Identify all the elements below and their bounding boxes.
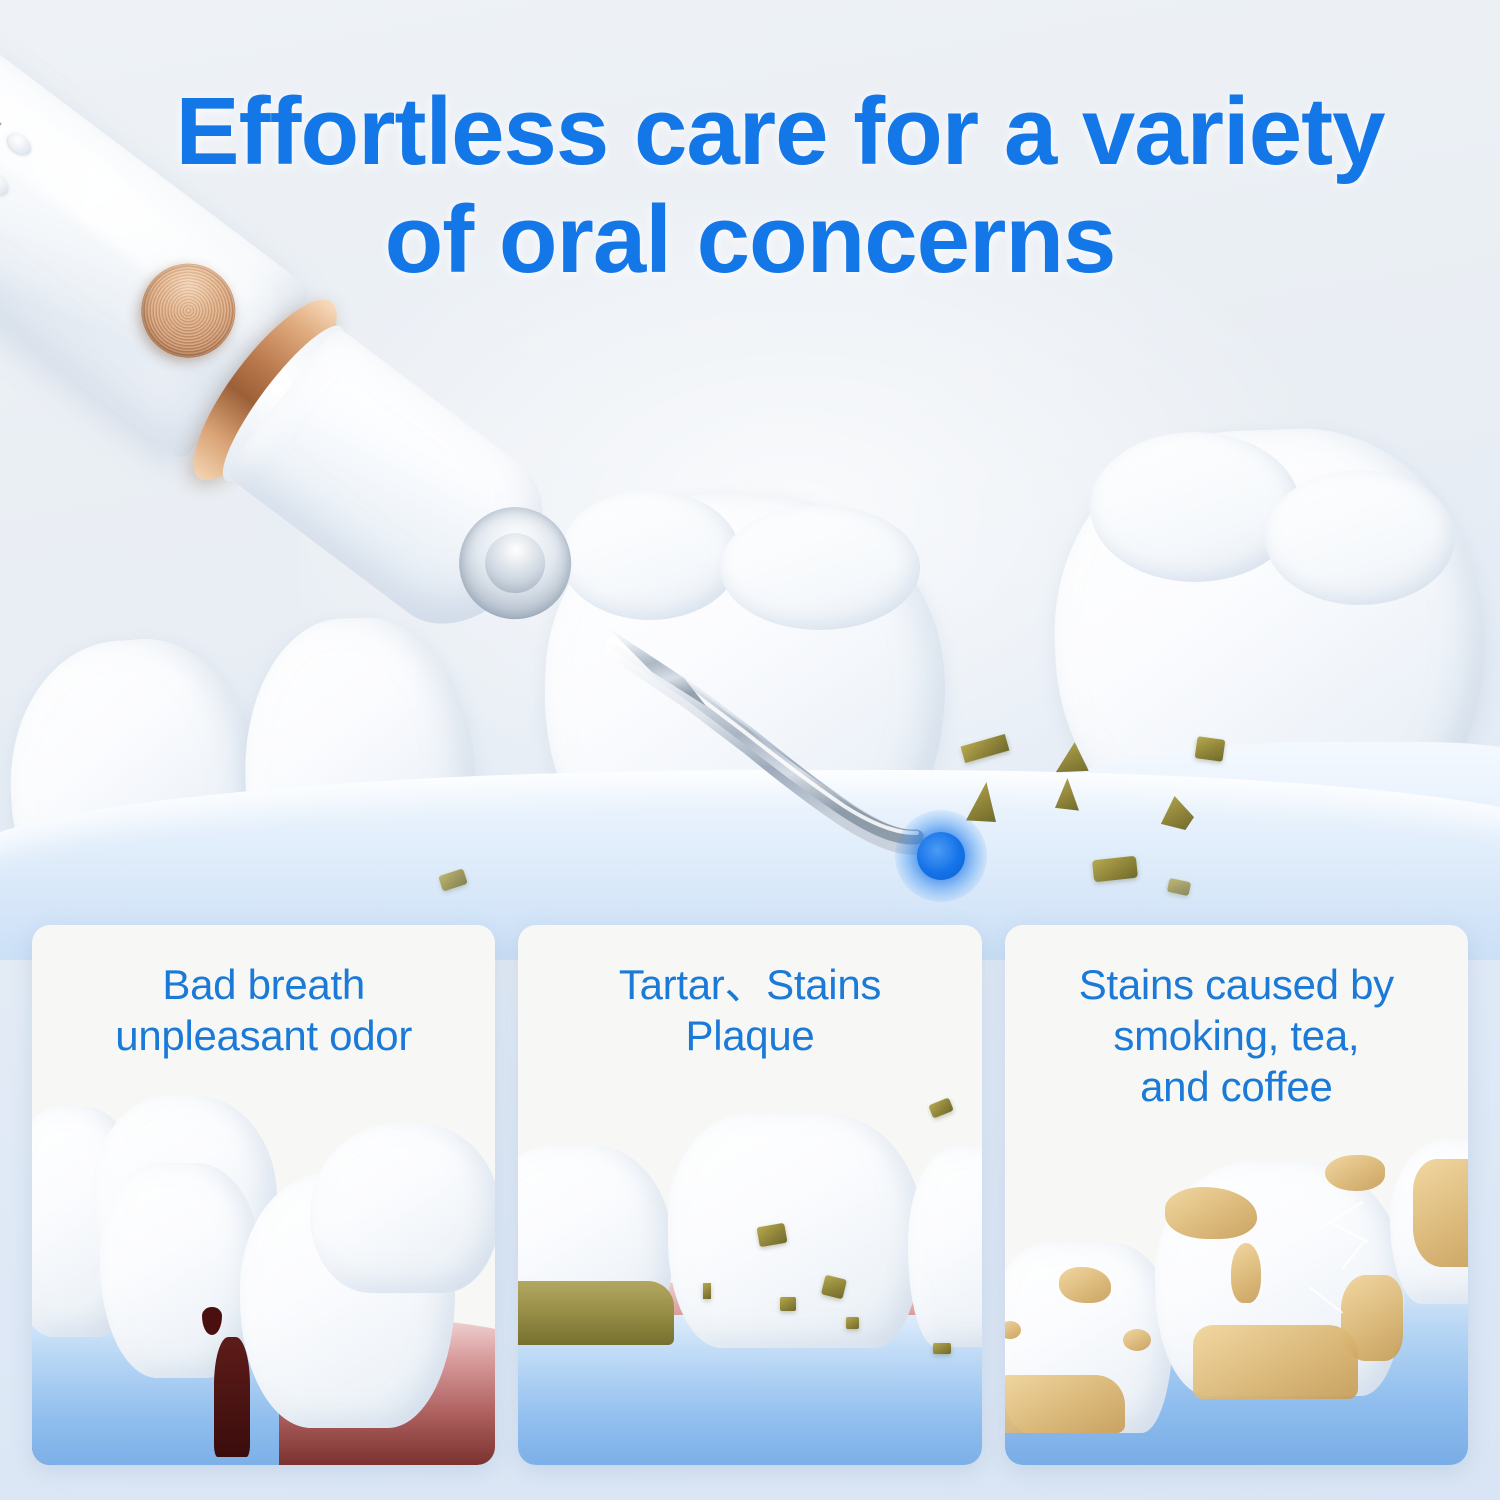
- card-caption-line-2: unpleasant odor: [50, 1010, 477, 1061]
- cleaning-contact-point: [917, 832, 965, 880]
- mode-indicator-dot: [5, 130, 36, 159]
- concern-card-tartar-plaque[interactable]: Tartar、Stains Plaque: [518, 925, 981, 1465]
- card-tooth: [668, 1113, 923, 1348]
- tartar-flake: [780, 1297, 796, 1311]
- tooth-stain: [1059, 1267, 1111, 1303]
- card-caption-line-2: smoking, tea,: [1023, 1010, 1450, 1061]
- card-caption-line-1: Bad breath: [50, 959, 477, 1010]
- tooth-stain: [1005, 1375, 1125, 1433]
- tooth-stain: [1341, 1275, 1403, 1361]
- tooth-stain: [1413, 1159, 1468, 1267]
- card-caption: Bad breath unpleasant odor: [32, 925, 495, 1071]
- tooth-stain: [1123, 1329, 1151, 1351]
- card-illustration-stained-teeth: [1005, 1135, 1468, 1465]
- tooth-cusp: [720, 505, 920, 630]
- card-caption-line-3: and coffee: [1023, 1061, 1450, 1112]
- card-caption-line-1: Stains caused by: [1023, 959, 1450, 1010]
- tooth-stain: [1325, 1155, 1385, 1191]
- card-caption: Stains caused by smoking, tea, and coffe…: [1005, 925, 1468, 1123]
- tartar-deposit: [518, 1281, 674, 1345]
- card-tooth: [908, 1147, 981, 1347]
- card-illustration-tartar-buildup: [518, 1085, 981, 1465]
- tartar-flake: [846, 1317, 859, 1329]
- tooth-cusp: [1090, 432, 1300, 582]
- card-tooth: [310, 1123, 495, 1293]
- tartar-flake: [933, 1343, 951, 1354]
- tartar-flake: [1195, 736, 1226, 762]
- tartar-flake: [703, 1283, 711, 1299]
- concern-card-list: Bad breath unpleasant odor Tartar、Stains…: [32, 925, 1468, 1465]
- tooth-stain: [1193, 1325, 1358, 1399]
- card-caption-line-1: Tartar、Stains: [536, 959, 963, 1010]
- tooth-cusp: [1265, 470, 1455, 605]
- hero-illustration: strong normal soft: [0, 0, 1500, 960]
- tooth-stain: [1231, 1243, 1261, 1303]
- gum-bleeding-area: [214, 1337, 250, 1457]
- concern-card-bad-breath[interactable]: Bad breath unpleasant odor: [32, 925, 495, 1465]
- mode-indicator-dot: [0, 170, 12, 199]
- card-caption-line-2: Plaque: [536, 1010, 963, 1061]
- product-marketing-page: strong normal soft: [0, 0, 1500, 1500]
- concern-card-smoking-stains[interactable]: Stains caused by smoking, tea, and coffe…: [1005, 925, 1468, 1465]
- tartar-flake: [929, 1097, 955, 1118]
- card-illustration-inflamed-gums: [32, 1085, 495, 1465]
- card-caption: Tartar、Stains Plaque: [518, 925, 981, 1071]
- tartar-flake: [1092, 856, 1138, 882]
